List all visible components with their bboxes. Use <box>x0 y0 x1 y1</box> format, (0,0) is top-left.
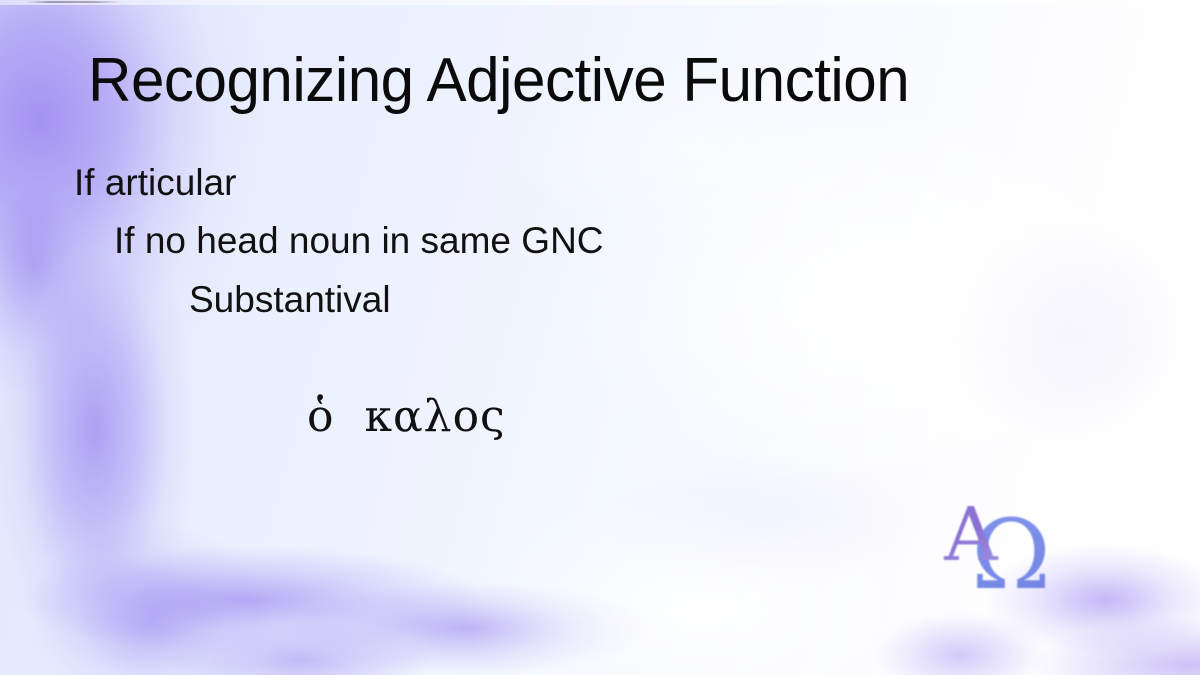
greek-example-text: ὁ καλος <box>307 395 506 439</box>
page-title: Recognizing Adjective Function <box>88 50 909 112</box>
svg-text:Α: Α <box>943 492 999 578</box>
presentation-slide: Recognizing Adjective Function If articu… <box>0 0 1200 675</box>
slide-content: Recognizing Adjective Function If articu… <box>0 0 1200 675</box>
alpha-glyph: Α <box>943 492 999 578</box>
list-item: Substantival <box>189 281 391 318</box>
alpha-omega-logo: Ω Α <box>925 488 1085 598</box>
list-item: If articular <box>74 164 236 201</box>
list-item: If no head noun in same GNC <box>114 222 604 259</box>
